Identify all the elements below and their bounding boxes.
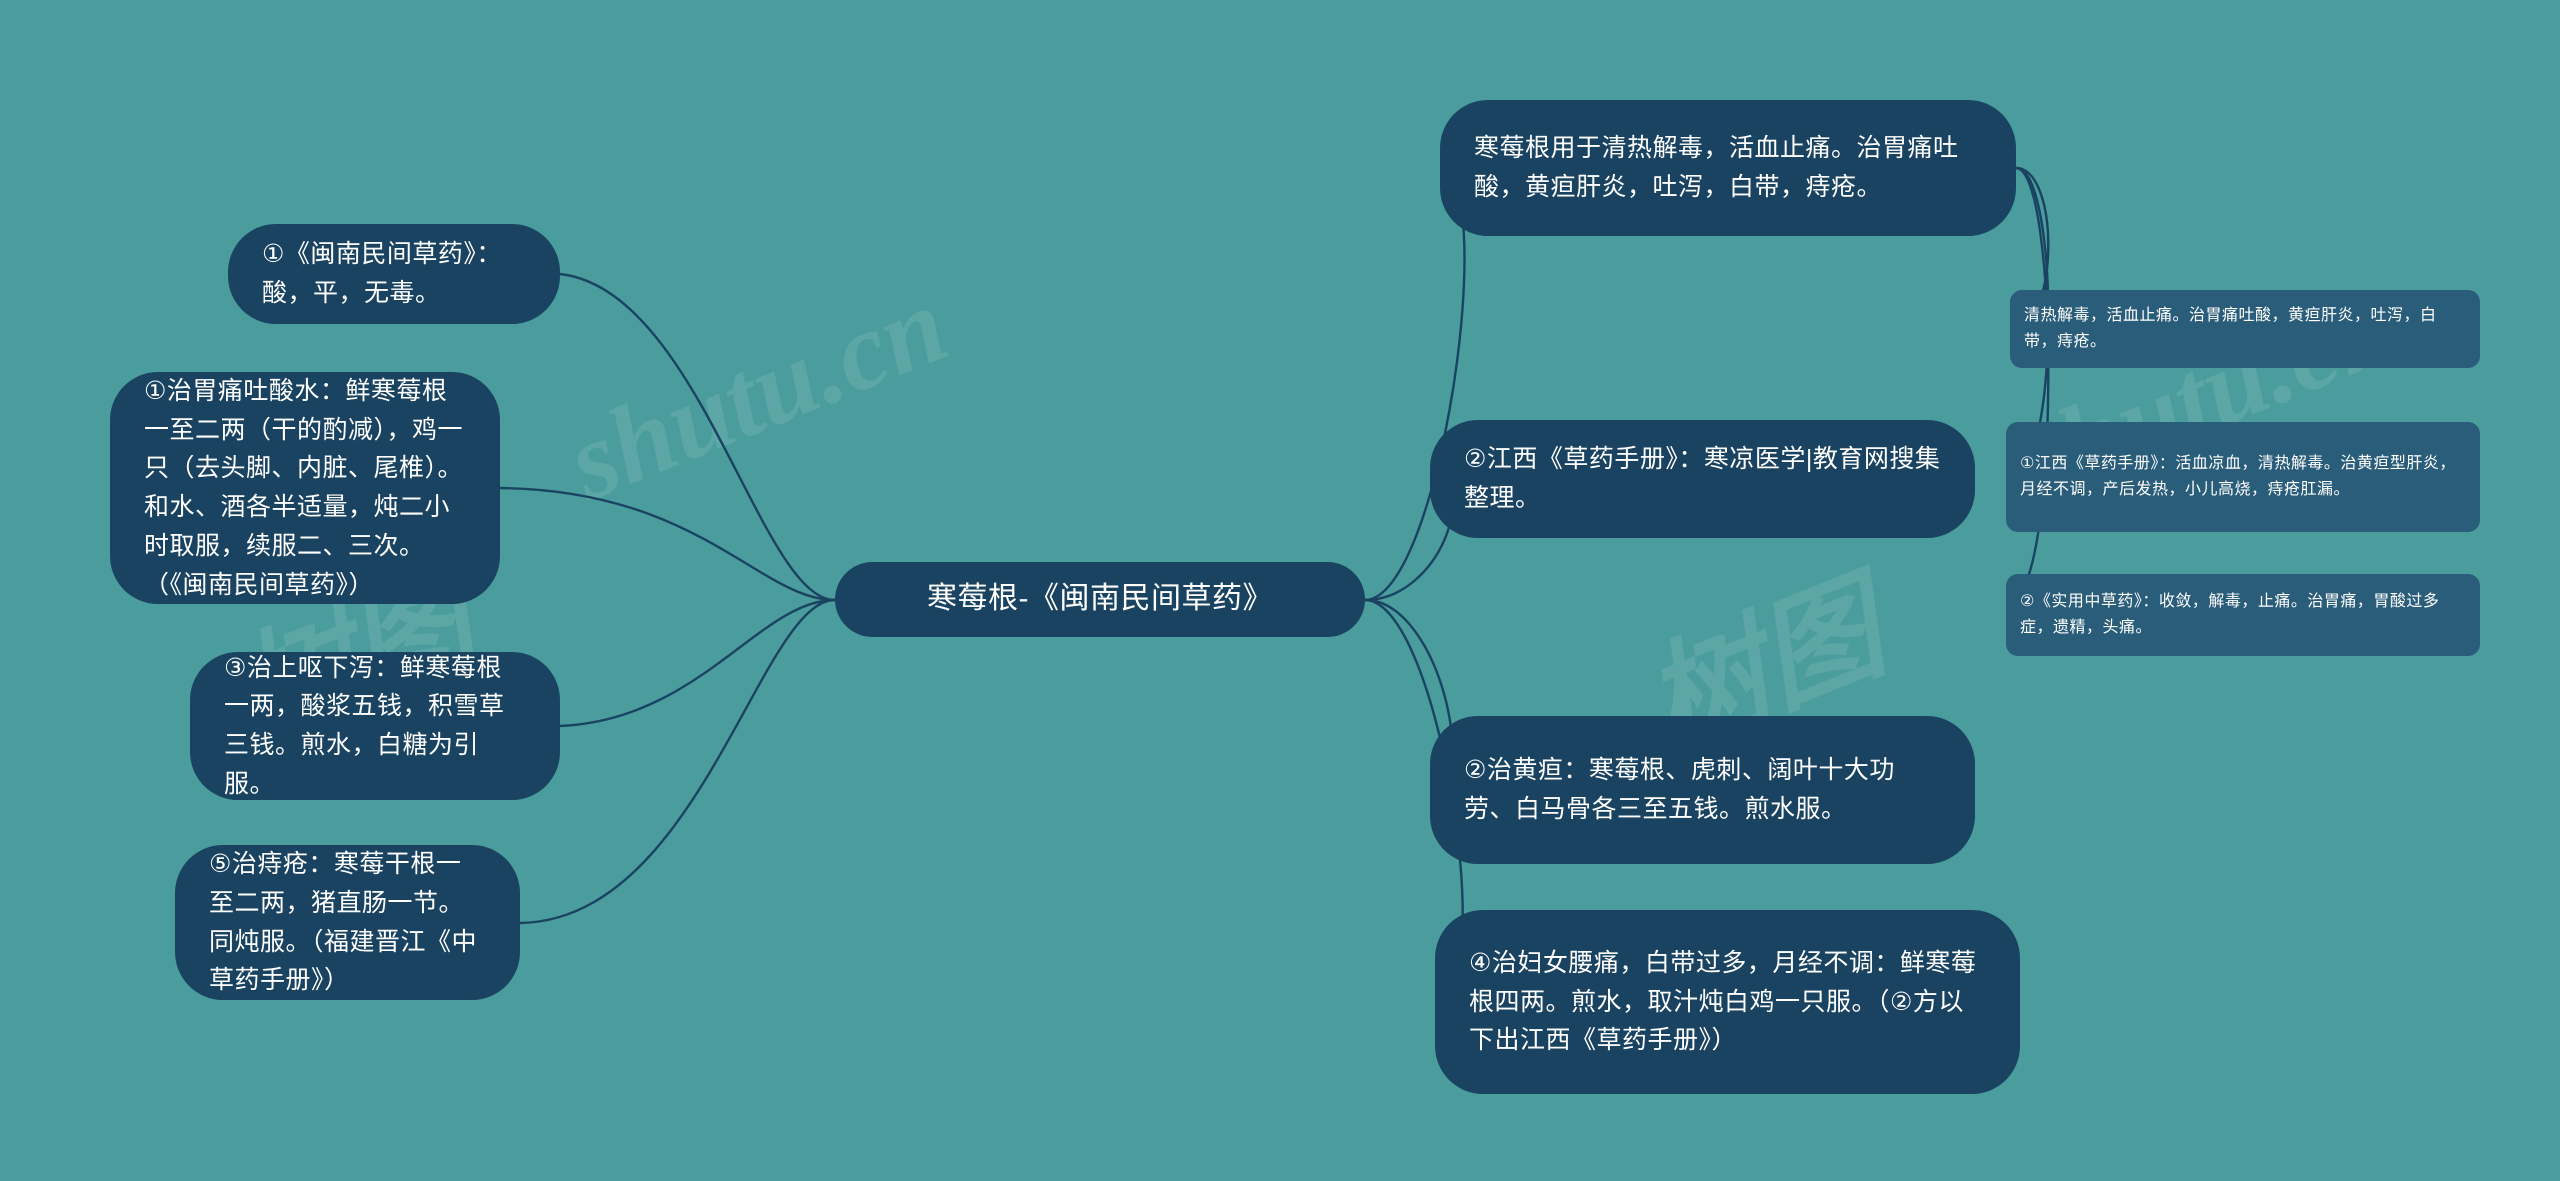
function-indication-node-label: 寒莓根用于清热解毒，活血止痛。治胃痛吐酸，黄疸肝炎，吐泻，白带，痔疮。 <box>1474 129 1982 207</box>
jaundice-recipe-node-label: ②治黄疸：寒莓根、虎刺、阔叶十大功劳、白马骨各三至五钱。煎水服。 <box>1464 751 1941 829</box>
connector-left-2 <box>500 488 835 600</box>
leaf-practical-herb-label: ②《实用中草药》：收敛，解毒，止痛。治胃痛，胃酸过多症，遗精，头痛。 <box>2020 589 2466 640</box>
vomit-diarrhea-recipe-node[interactable]: ③治上呕下泻：鲜寒莓根一两，酸浆五钱，积雪草三钱。煎水，白糖为引服。 <box>190 652 560 800</box>
central-node[interactable]: 寒莓根-《闽南民间草药》 <box>835 562 1365 637</box>
property-node[interactable]: ①《闽南民间草药》：酸，平，无毒。 <box>228 224 560 324</box>
jiangxi-handbook-node-label: ②江西《草药手册》：寒凉医学|教育网搜集整理。 <box>1464 440 1941 518</box>
connector-left-1 <box>560 274 835 600</box>
women-waist-pain-recipe-node-label: ④治妇女腰痛，白带过多，月经不调：鲜寒莓根四两。煎水，取汁炖白鸡一只服。（②方以… <box>1469 944 1986 1060</box>
jiangxi-handbook-node[interactable]: ②江西《草药手册》：寒凉医学|教育网搜集整理。 <box>1430 420 1975 538</box>
hemorrhoid-recipe-node[interactable]: ⑤治痔疮：寒莓干根一至二两，猪直肠一节。同炖服。（福建晋江《中草药手册》） <box>175 845 520 1000</box>
jaundice-recipe-node[interactable]: ②治黄疸：寒莓根、虎刺、阔叶十大功劳、白马骨各三至五钱。煎水服。 <box>1430 716 1975 864</box>
connector-left-4 <box>520 600 835 923</box>
connector-left-3 <box>560 600 835 726</box>
leaf-jiangxi-handbook[interactable]: ①江西《草药手册》：活血凉血，清热解毒。治黄疸型肝炎，月经不调，产后发热，小儿高… <box>2006 422 2480 532</box>
connector-leaf-3 <box>2010 168 2048 600</box>
stomach-pain-recipe-node[interactable]: ①治胃痛吐酸水：鲜寒莓根一至二两（干的酌减），鸡一只（去头脚、内脏、尾椎）。和水… <box>110 372 500 604</box>
vomit-diarrhea-recipe-node-label: ③治上呕下泻：鲜寒莓根一两，酸浆五钱，积雪草三钱。煎水，白糖为引服。 <box>224 649 526 804</box>
leaf-function-summary-label: 清热解毒，活血止痛。治胃痛吐酸，黄疸肝炎，吐泻，白带，痔疮。 <box>2024 303 2466 354</box>
leaf-function-summary[interactable]: 清热解毒，活血止痛。治胃痛吐酸，黄疸肝炎，吐泻，白带，痔疮。 <box>2010 290 2480 368</box>
watermark-left-2: shutu.cn <box>551 261 964 526</box>
central-node-label: 寒莓根-《闽南民间草药》 <box>927 576 1273 623</box>
stomach-pain-recipe-node-label: ①治胃痛吐酸水：鲜寒莓根一至二两（干的酌减），鸡一只（去头脚、内脏、尾椎）。和水… <box>144 372 466 605</box>
hemorrhoid-recipe-node-label: ⑤治痔疮：寒莓干根一至二两，猪直肠一节。同炖服。（福建晋江《中草药手册》） <box>209 845 486 1000</box>
connector-right-1 <box>1365 168 1464 600</box>
mindmap-canvas: 树图 shutu.cn 树图 shutu.cn 寒莓根-《闽南民间草药》 ①《闽… <box>0 0 2560 1181</box>
property-node-label: ①《闽南民间草药》：酸，平，无毒。 <box>262 235 526 313</box>
women-waist-pain-recipe-node[interactable]: ④治妇女腰痛，白带过多，月经不调：鲜寒莓根四两。煎水，取汁炖白鸡一只服。（②方以… <box>1435 910 2020 1094</box>
function-indication-node[interactable]: 寒莓根用于清热解毒，活血止痛。治胃痛吐酸，黄疸肝炎，吐泻，白带，痔疮。 <box>1440 100 2016 236</box>
leaf-practical-herb[interactable]: ②《实用中草药》：收敛，解毒，止痛。治胃痛，胃酸过多症，遗精，头痛。 <box>2006 574 2480 656</box>
leaf-jiangxi-handbook-label: ①江西《草药手册》：活血凉血，清热解毒。治黄疸型肝炎，月经不调，产后发热，小儿高… <box>2020 451 2466 502</box>
